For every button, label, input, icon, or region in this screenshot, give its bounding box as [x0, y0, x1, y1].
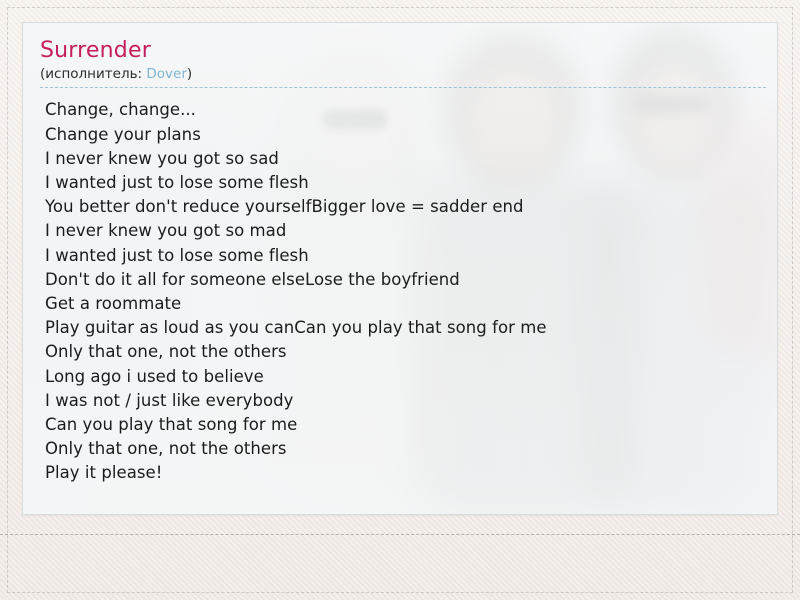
artist-prefix-label: (исполнитель: — [40, 66, 146, 82]
lyric-line: Long ago i used to believe — [45, 365, 763, 389]
lyric-line: Get a roommate — [45, 292, 763, 316]
lyric-line: I was not / just like everybody — [45, 389, 763, 413]
slide-content: Surrender (исполнитель: Dover) Change, c… — [23, 23, 777, 486]
lyric-line: Play it please! — [45, 461, 763, 485]
slide-page-background: Surrender (исполнитель: Dover) Change, c… — [0, 0, 800, 600]
lyrics-slide-card: Surrender (исполнитель: Dover) Change, c… — [22, 22, 778, 515]
lyric-line: I never knew you got so sad — [45, 147, 763, 171]
artist-line: (исполнитель: Dover) — [40, 66, 763, 82]
lyric-line: I wanted just to lose some flesh — [45, 244, 763, 268]
lyric-line: Change, change... — [45, 98, 763, 122]
lyric-line: Can you play that song for me — [45, 413, 763, 437]
lyric-line: Don't do it all for someone elseLose the… — [45, 268, 763, 292]
lyric-line: Change your plans — [45, 123, 763, 147]
lyric-line: You better don't reduce yourselfBigger l… — [45, 195, 763, 219]
artist-link[interactable]: Dover — [146, 66, 187, 82]
page-bottom-dashed-rule — [0, 534, 800, 535]
lyrics-list: Change, change...Change your plansI neve… — [45, 98, 763, 485]
lyric-line: I wanted just to lose some flesh — [45, 171, 763, 195]
song-title: Surrender — [40, 39, 763, 63]
lyric-line: Only that one, not the others — [45, 437, 763, 461]
lyric-line: Only that one, not the others — [45, 340, 763, 364]
lyric-line: I never knew you got so mad — [45, 219, 763, 243]
lyric-line: Play guitar as loud as you canCan you pl… — [45, 316, 763, 340]
header-dashed-rule — [40, 87, 766, 88]
artist-suffix-label: ) — [187, 66, 192, 82]
